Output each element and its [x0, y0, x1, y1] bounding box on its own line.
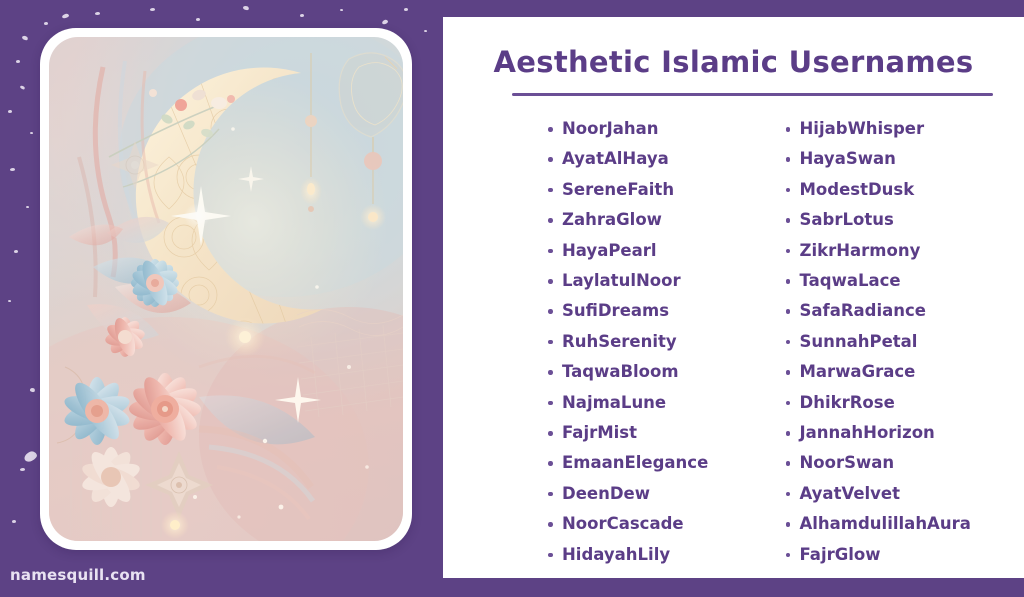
names-column-right: HijabWhisperHayaSwanModestDuskSabrLotusZ…: [734, 114, 1024, 566]
list-item: NoorSwan: [786, 448, 1024, 478]
poster-canvas: Aesthetic Islamic Usernames NoorJahanAya…: [0, 0, 1024, 597]
watermark: namesquill.com: [10, 566, 146, 584]
list-item: AyatAlHaya: [548, 144, 734, 174]
list-item: FajrMist: [548, 418, 734, 448]
page-title: Aesthetic Islamic Usernames: [443, 45, 1024, 79]
list-item: HayaPearl: [548, 236, 734, 266]
list-item: NoorJahan: [548, 114, 734, 144]
names-panel: Aesthetic Islamic Usernames NoorJahanAya…: [443, 17, 1024, 578]
list-item: SabrLotus: [786, 205, 1024, 235]
list-item: EmaanElegance: [548, 448, 734, 478]
list-item: DhikrRose: [786, 388, 1024, 418]
list-item: JannahHorizon: [786, 418, 1024, 448]
list-item: HidayahLily: [548, 540, 734, 570]
list-item: ZikrHarmony: [786, 236, 1024, 266]
list-item: LaylatulNoor: [548, 266, 734, 296]
list-item: DeenDew: [548, 479, 734, 509]
list-item: HayaSwan: [786, 144, 1024, 174]
list-item: FajrGlow: [786, 540, 1024, 570]
list-item: NajmaLune: [548, 388, 734, 418]
artwork-card: [40, 28, 412, 550]
list-item: TaqwaLace: [786, 266, 1024, 296]
list-item: SafaRadiance: [786, 296, 1024, 326]
list-item: HijabWhisper: [786, 114, 1024, 144]
list-item: ZahraGlow: [548, 205, 734, 235]
list-item: NoorCascade: [548, 509, 734, 539]
crescent-moon-illustration: [49, 37, 403, 541]
list-item: AlhamdulillahAura: [786, 509, 1024, 539]
list-item: SunnahPetal: [786, 327, 1024, 357]
list-item: AyatVelvet: [786, 479, 1024, 509]
list-item: ModestDusk: [786, 175, 1024, 205]
names-columns: NoorJahanAyatAlHayaSereneFaithZahraGlowH…: [443, 114, 1024, 566]
list-item: SereneFaith: [548, 175, 734, 205]
title-divider: [512, 93, 993, 96]
artwork-image: [49, 37, 403, 541]
names-column-left: NoorJahanAyatAlHayaSereneFaithZahraGlowH…: [443, 114, 734, 566]
list-item: SufiDreams: [548, 296, 734, 326]
list-item: MarwaGrace: [786, 357, 1024, 387]
list-item: RuhSerenity: [548, 327, 734, 357]
list-item: TaqwaBloom: [548, 357, 734, 387]
